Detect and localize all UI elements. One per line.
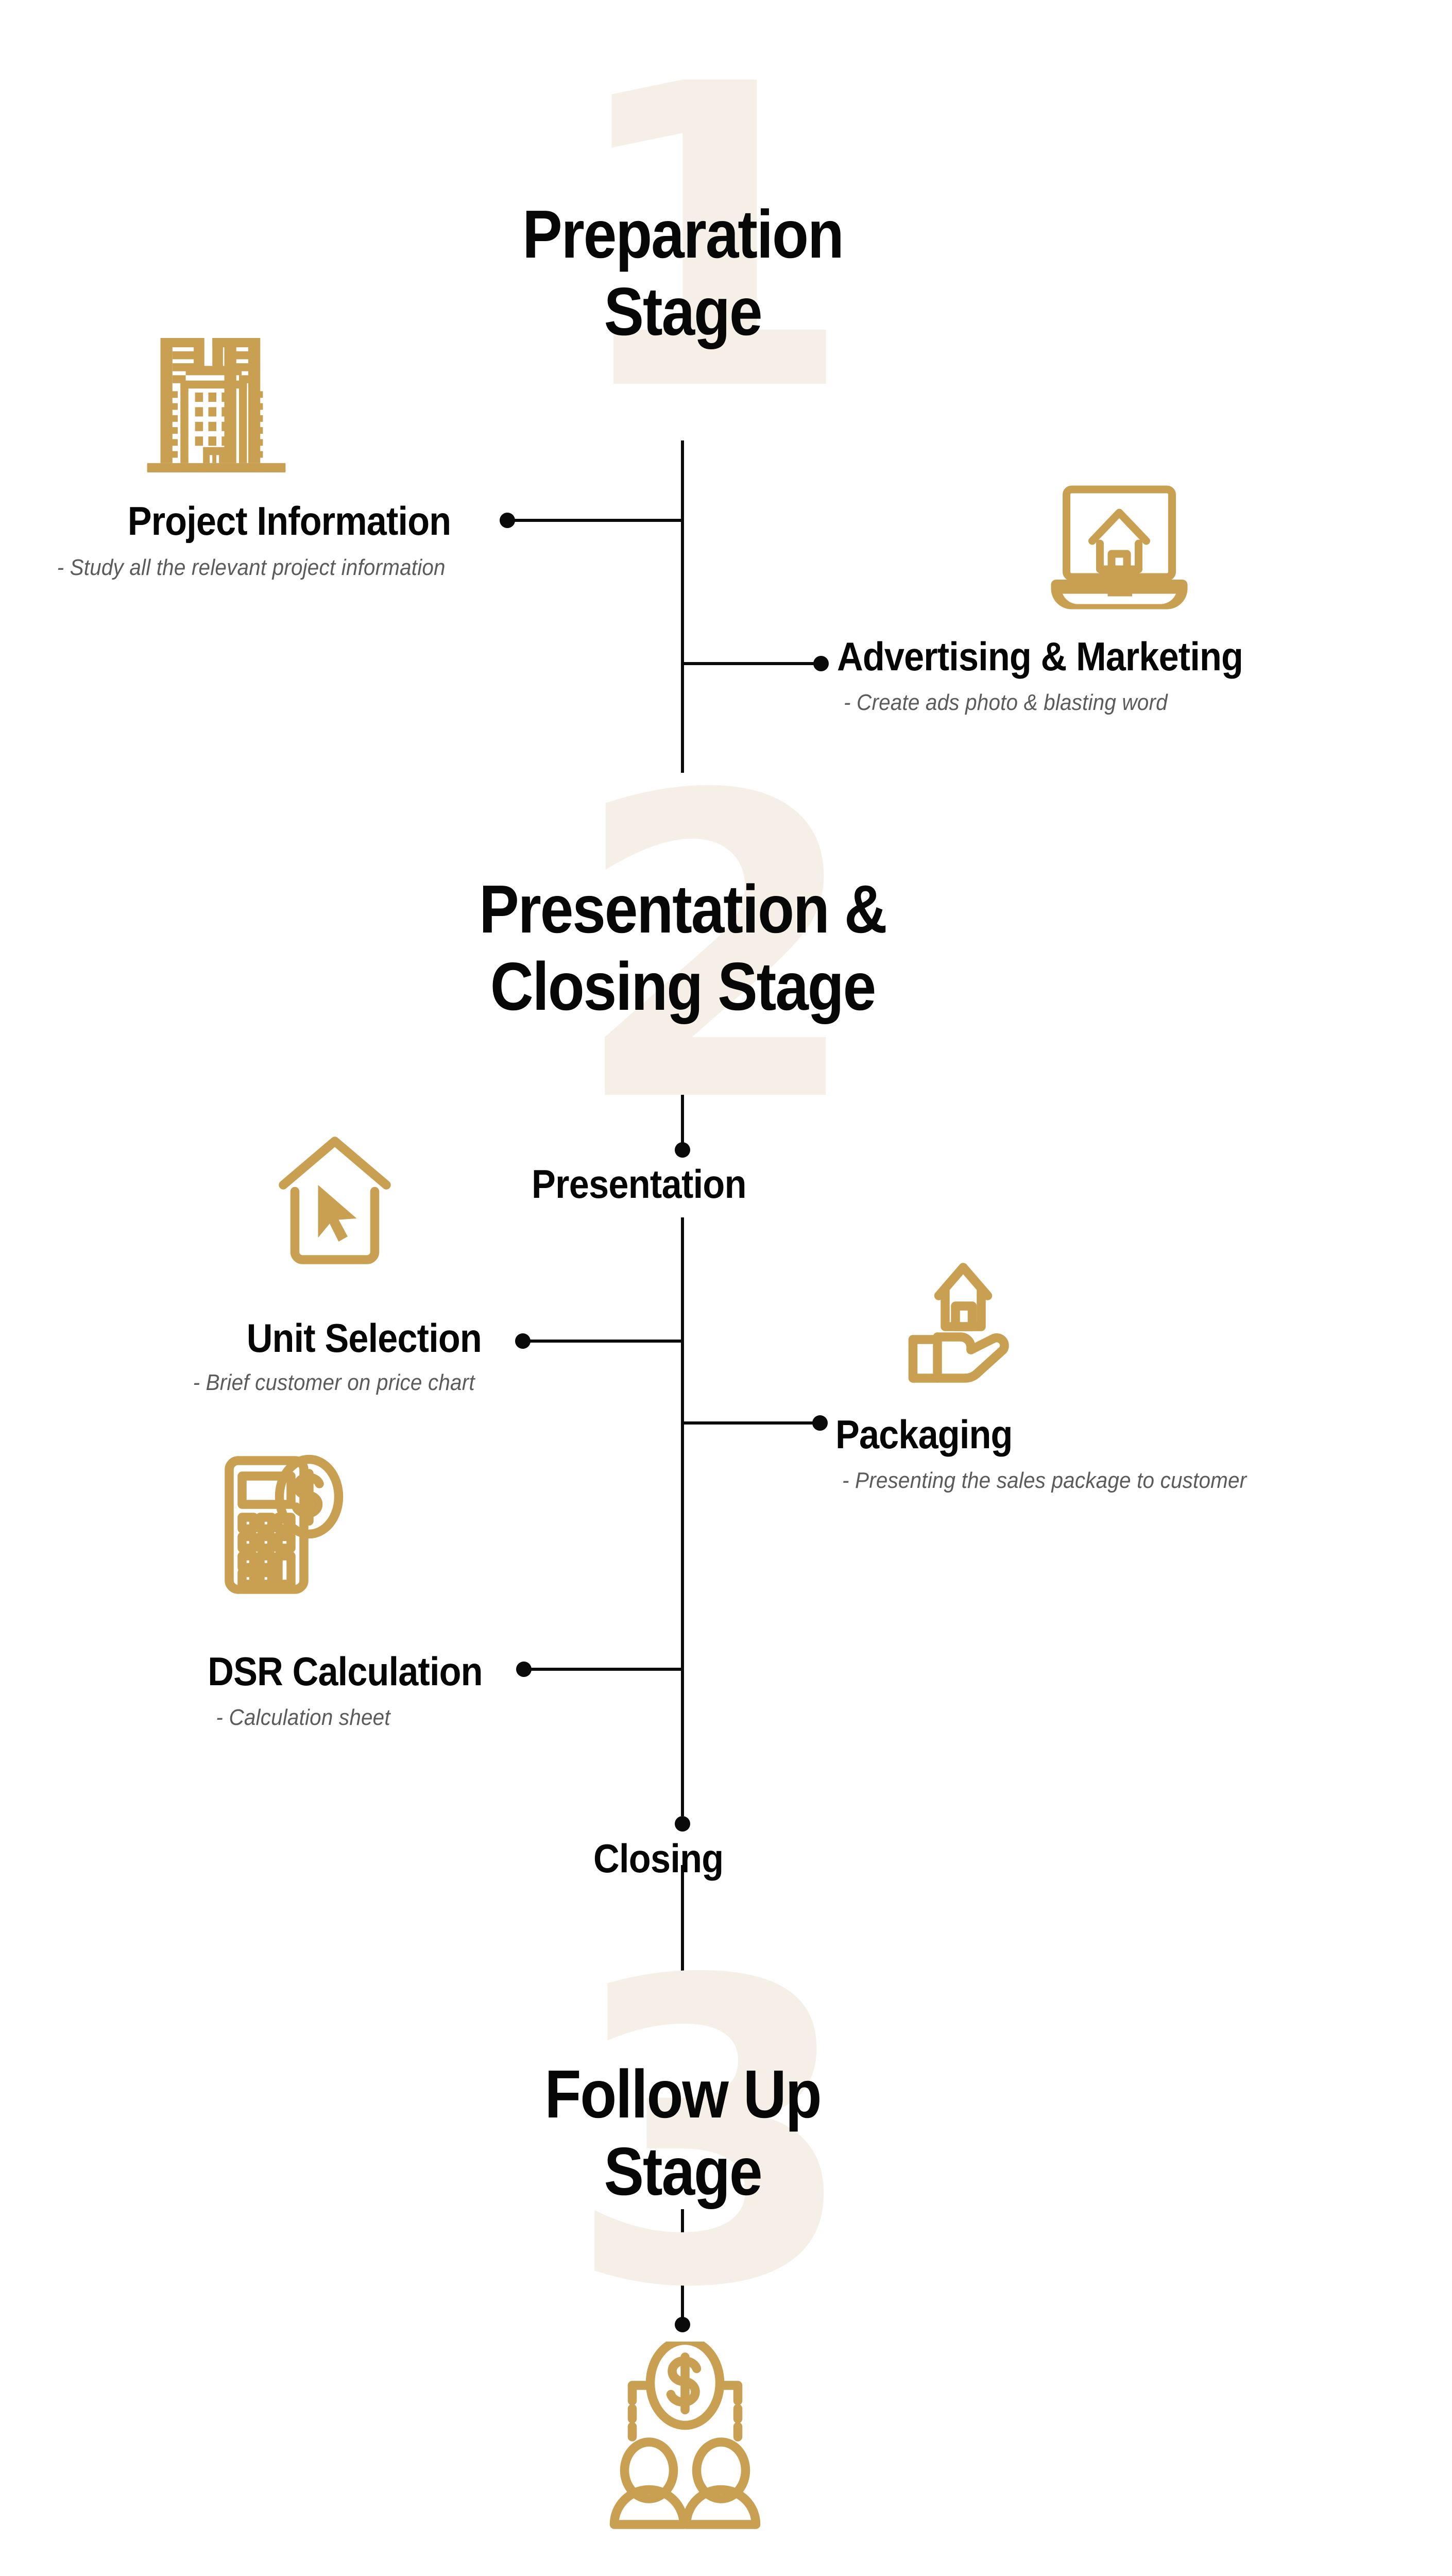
people-dollar-icon [592, 2342, 778, 2543]
stage-heading-2-line1: Presentation & [337, 871, 1029, 948]
node-title-follow-up: Follow Up [451, 2572, 914, 2576]
node-description-dsr-calculation: - Calculation sheet [216, 1706, 390, 1729]
node-unit-selection[interactable]: Unit Selection - Brief customer on price… [0, 1128, 525, 1417]
node-advertising-marketing[interactable]: Advertising & Marketing - Create ads pho… [819, 479, 1452, 737]
spine-label-closing: Closing [593, 1835, 723, 1882]
node-dsr-calculation[interactable]: DSR Calculation - Calculation sheet [0, 1443, 525, 1752]
stage-heading-2-line2: Closing Stage [337, 948, 1029, 1025]
spine-dot-closing [675, 1816, 690, 1832]
laptop-house-icon [1034, 479, 1204, 618]
house-cursor-icon [260, 1128, 409, 1278]
office-building-icon [136, 327, 296, 477]
node-description-packaging: - Presenting the sales package to custom… [842, 1469, 1246, 1492]
spine-label-presentation: Presentation [532, 1161, 746, 1208]
infographic-canvas: 1 2 3 Preparation Stage Presentation & C… [0, 0, 1452, 2576]
stage-heading-1-line1: Preparation [337, 196, 1029, 273]
stage-heading-3-line1: Follow Up [337, 2056, 1029, 2133]
node-packaging[interactable]: Packaging - Presenting the sales package… [819, 1247, 1452, 1535]
node-title-unit-selection: Unit Selection [247, 1318, 482, 1358]
node-project-information[interactable]: Project Information - Study all the rele… [0, 309, 510, 598]
node-description-advertising-marketing: - Create ads photo & blasting word [844, 691, 1168, 714]
stage-heading-2: Presentation & Closing Stage [337, 871, 1029, 1026]
calculator-dollar-icon [206, 1443, 361, 1607]
node-title-dsr-calculation: DSR Calculation [208, 1651, 483, 1691]
node-description-unit-selection: - Brief customer on price chart [193, 1371, 475, 1394]
node-title-project-information: Project Information [127, 501, 451, 541]
node-follow-up[interactable]: Follow Up - Follow up customers [425, 2342, 940, 2576]
stage-heading-3-line2: Stage [337, 2133, 1029, 2210]
node-description-project-information: - Study all the relevant project informa… [57, 556, 446, 579]
node-title-advertising-marketing: Advertising & Marketing [837, 636, 1243, 676]
stage-heading-3: Follow Up Stage [337, 2056, 1029, 2211]
node-title-packaging: Packaging [835, 1414, 1013, 1454]
hand-house-icon [891, 1252, 1071, 1406]
